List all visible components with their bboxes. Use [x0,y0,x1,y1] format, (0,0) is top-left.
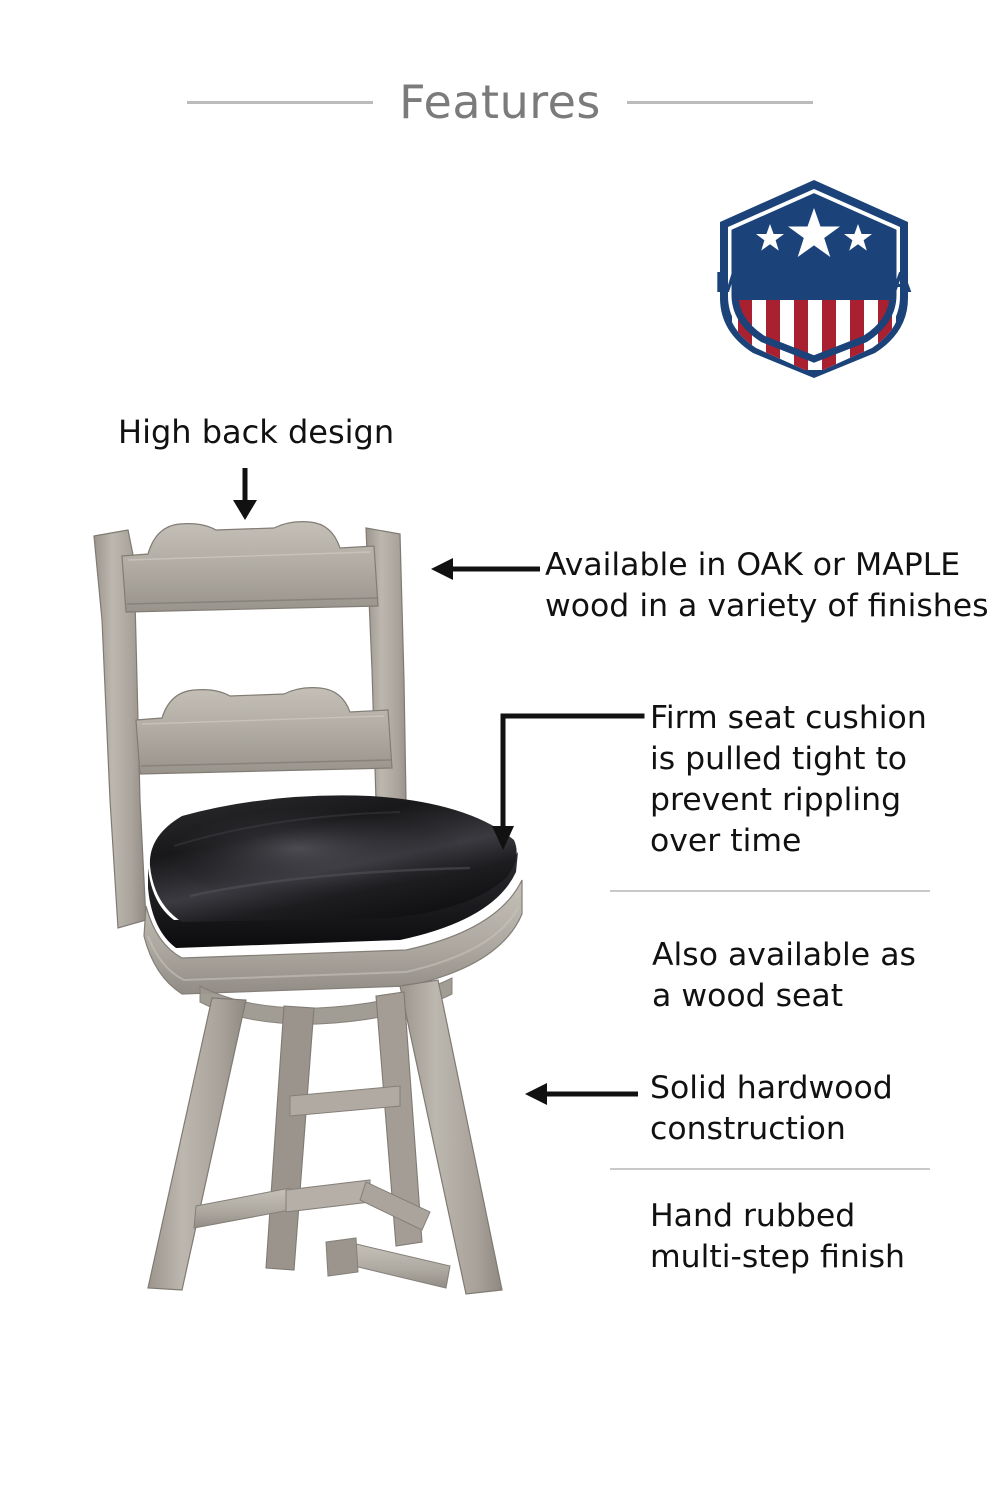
made-in-usa-badge-icon: MADE IN USA [712,178,916,378]
chair-leg-rear-left [266,1006,314,1270]
callout-solid-hardwood: Solid hardwood construction [650,1068,893,1150]
callout-line: Also available as [652,935,916,976]
chair-stretcher-block [326,1238,358,1276]
page-header: Features [0,60,1000,144]
callout-line: High back design [118,412,394,454]
callout-line: Firm seat cushion [650,698,927,739]
feature-infographic: Features [0,0,1000,1500]
callout-high-back-design: High back design [118,412,394,454]
callout-line: construction [650,1109,893,1150]
callout-hand-rubbed-finish: Hand rubbed multi-step finish [650,1196,905,1278]
left-arrow-icon-solid [522,1077,640,1111]
elbow-arrow-icon-cushion [492,710,644,852]
callout-divider-upper [610,890,930,892]
page-title: Features [399,75,601,129]
callout-line: over time [650,821,927,862]
callout-wood-options: Available in OAK or MAPLE wood in a vari… [545,545,989,627]
callout-line: multi-step finish [650,1237,905,1278]
callout-line: prevent rippling [650,780,927,821]
chair-leg-front-right [400,980,502,1294]
header-rule-right [627,101,813,104]
callout-divider-lower [610,1168,930,1170]
callout-line: Solid hardwood [650,1068,893,1109]
callout-wood-seat-option: Also available as a wood seat [652,935,916,1017]
callout-line: is pulled tight to [650,739,927,780]
header-rule-left [187,101,373,104]
product-image-bar-stool [70,500,550,1330]
callout-line: Available in OAK or MAPLE [545,545,989,586]
callout-line: Hand rubbed [650,1196,905,1237]
badge-label: MADE IN USA [715,267,912,299]
callout-seat-cushion: Firm seat cushion is pulled tight to pre… [650,698,927,862]
chair-leg-front-left [148,998,246,1290]
callout-line: a wood seat [652,976,916,1017]
left-arrow-icon-wood [428,552,542,586]
callout-line: wood in a variety of finishes [545,586,989,627]
down-arrow-icon [222,468,268,522]
chair-stretcher-right-lower [354,1244,450,1288]
